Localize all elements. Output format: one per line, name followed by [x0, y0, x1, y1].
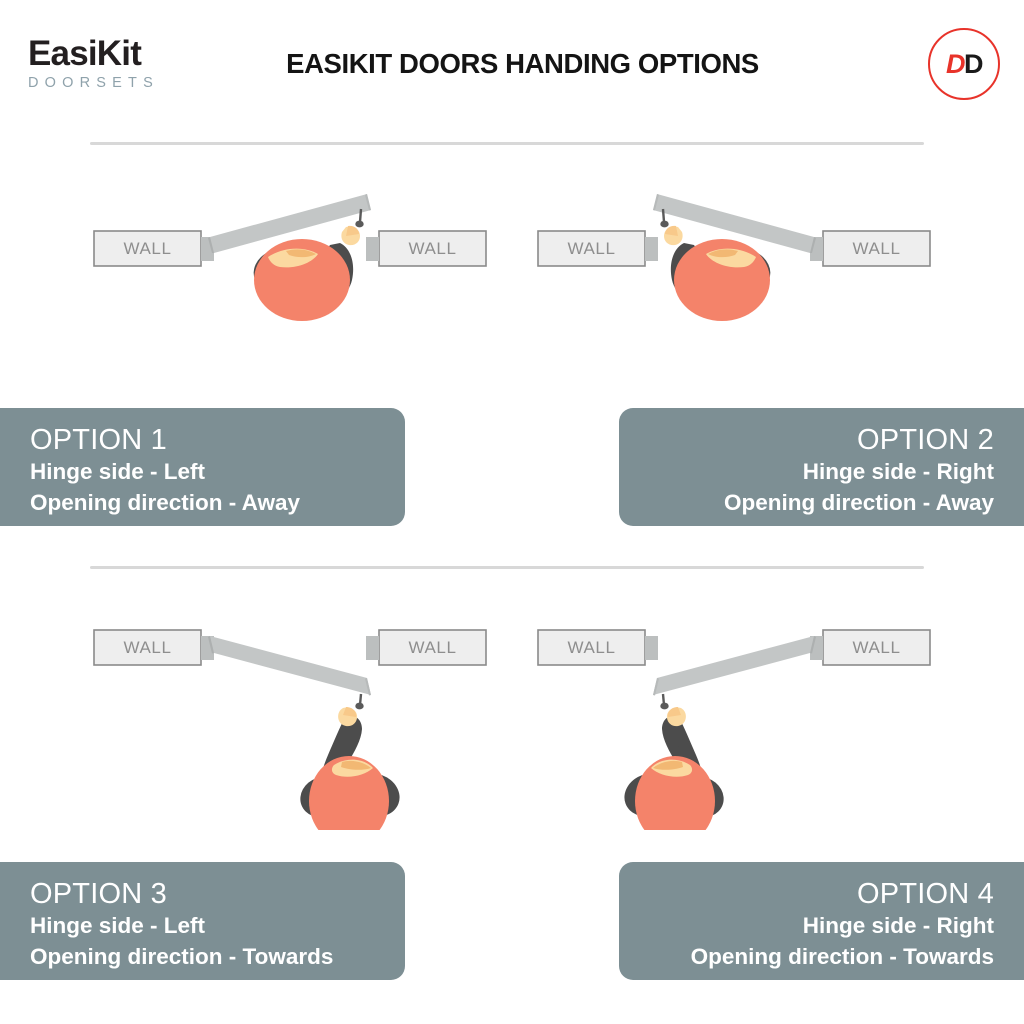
door-handle-icon — [355, 694, 363, 709]
dd-logo-letter-black: D — [964, 49, 982, 79]
option-panel-2: OPTION 2 Hinge side - Right Opening dire… — [619, 408, 1024, 526]
wall-label-right: WALL — [852, 638, 900, 657]
option-3-opening-direction: Opening direction - Towards — [30, 942, 375, 972]
divider-top — [90, 142, 924, 145]
wall-block-left: WALL — [94, 630, 201, 665]
door-jamb-left — [645, 237, 658, 261]
door-leaf — [208, 636, 371, 696]
option-4-title: OPTION 4 — [649, 878, 994, 910]
option-1-hinge-side: Hinge side - Left — [30, 457, 375, 487]
wall-block-left: WALL — [94, 231, 201, 266]
option-2-title: OPTION 2 — [649, 424, 994, 456]
wall-label-left: WALL — [123, 638, 171, 657]
page-header: EasiKit DOORSETS EASIKIT DOORS HANDING O… — [0, 0, 1024, 118]
option-2-hinge-side: Hinge side - Right — [649, 457, 994, 487]
option-3-hinge-side: Hinge side - Left — [30, 911, 375, 941]
person-figure — [295, 707, 406, 830]
page-title: EASIKIT DOORS HANDING OPTIONS — [250, 48, 795, 80]
option-panel-1: OPTION 1 Hinge side - Left Opening direc… — [0, 408, 405, 526]
wall-label-left: WALL — [567, 638, 615, 657]
option-4-opening-direction: Opening direction - Towards — [649, 942, 994, 972]
diagram-option-1: WALL WALL — [90, 185, 490, 335]
wall-label-left: WALL — [123, 239, 171, 258]
option-panel-3: OPTION 3 Hinge side - Left Opening direc… — [0, 862, 405, 980]
wall-block-right: WALL — [379, 630, 486, 665]
option-1-title: OPTION 1 — [30, 424, 375, 456]
easikit-brand-logo: EasiKit DOORSETS — [28, 36, 218, 91]
divider-middle — [90, 566, 924, 569]
option-3-title: OPTION 3 — [30, 878, 375, 910]
diagram-option-4: WALL WALL — [534, 605, 934, 830]
option-panel-4: OPTION 4 Hinge side - Right Opening dire… — [619, 862, 1024, 980]
brand-name: EasiKit — [28, 36, 218, 71]
person-figure — [618, 707, 729, 830]
brand-subtitle: DOORSETS — [28, 76, 218, 91]
wall-block-right: WALL — [379, 231, 486, 266]
option-1-opening-direction: Opening direction - Away — [30, 488, 375, 518]
person-figure — [247, 226, 360, 321]
option-4-hinge-side: Hinge side - Right — [649, 911, 994, 941]
door-leaf — [653, 636, 816, 696]
dd-circle-logo-icon: DD — [928, 28, 1000, 100]
handing-options-infographic: EasiKit DOORSETS EASIKIT DOORS HANDING O… — [0, 0, 1024, 1024]
wall-label-right: WALL — [408, 638, 456, 657]
dd-logo-letter-red: D — [946, 49, 964, 79]
person-figure — [664, 226, 777, 321]
diagram-option-2: WALL WALL — [534, 185, 934, 335]
door-jamb-right — [366, 237, 379, 261]
door-jamb-right — [366, 636, 379, 660]
door-jamb-left — [645, 636, 658, 660]
wall-label-right: WALL — [852, 239, 900, 258]
wall-label-left: WALL — [567, 239, 615, 258]
door-handle-icon — [660, 694, 668, 709]
wall-label-right: WALL — [408, 239, 456, 258]
option-2-opening-direction: Opening direction - Away — [649, 488, 994, 518]
diagram-option-3: WALL WALL — [90, 605, 490, 830]
